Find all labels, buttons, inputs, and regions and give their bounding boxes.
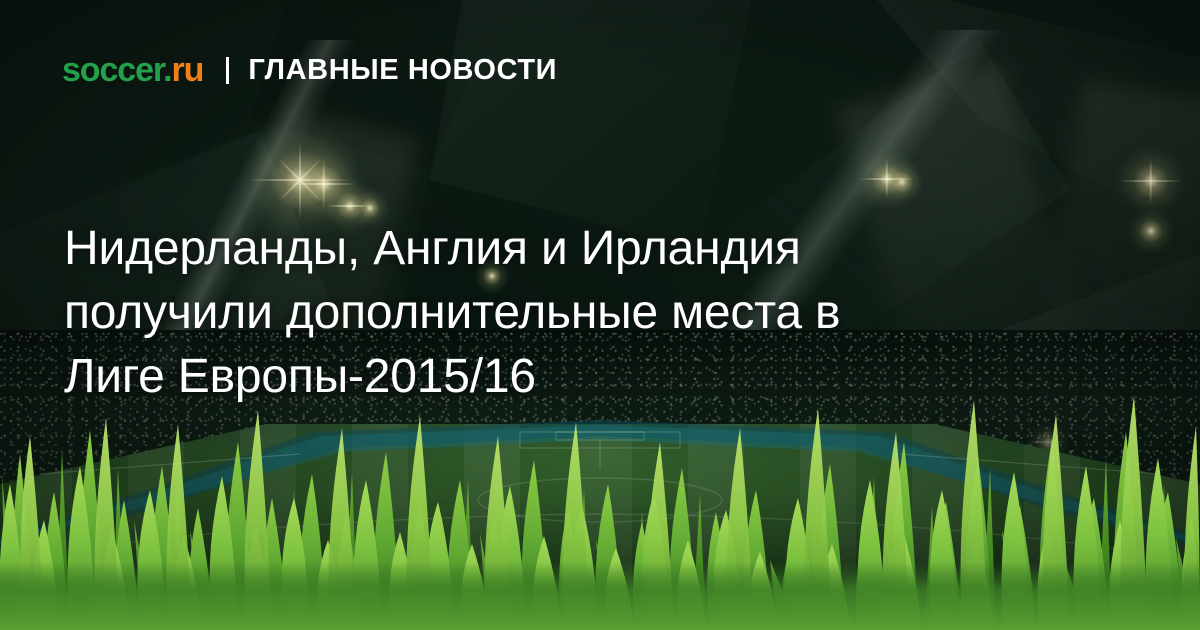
logo-word-soccer: soccer — [62, 51, 163, 89]
article-headline: Нидерланды, Англия и Ирландия получили д… — [64, 217, 1094, 409]
logo-dot: . — [163, 51, 171, 89]
soccer-ru-logo[interactable]: soccer.ru — [62, 53, 203, 87]
header-divider — [226, 57, 229, 84]
social-share-card: soccer.ru ГЛАВНЫЕ НОВОСТИ Нидерланды, Ан… — [0, 0, 1200, 630]
headline-line-2: получили дополнительные места в — [64, 281, 1094, 345]
headline-line-3: Лиге Европы-2015/16 — [64, 345, 1094, 409]
logo-word-ru: ru — [172, 51, 204, 89]
headline-line-1: Нидерланды, Англия и Ирландия — [64, 217, 1094, 281]
section-kicker: ГЛАВНЫЕ НОВОСТИ — [248, 56, 557, 85]
site-header: soccer.ru ГЛАВНЫЕ НОВОСТИ — [62, 48, 557, 92]
